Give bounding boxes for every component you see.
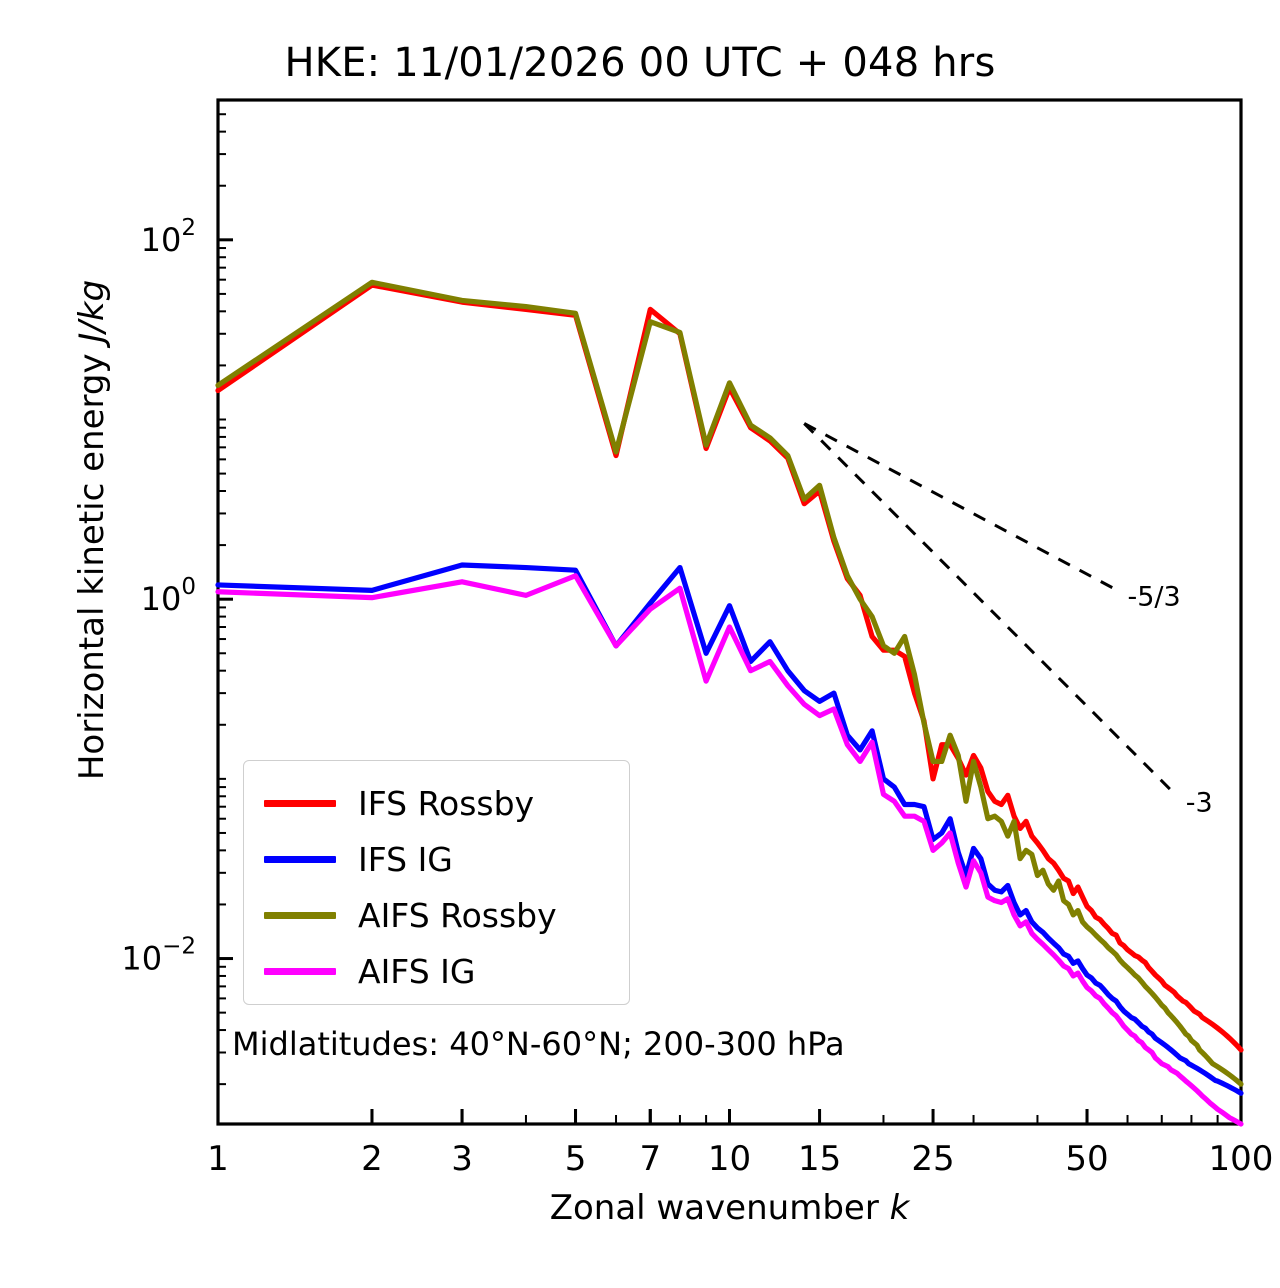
x-tick-label: 7 xyxy=(639,1139,661,1179)
x-tick-labels: 1235710152550100 xyxy=(207,1139,1273,1179)
x-tick-label: 3 xyxy=(451,1139,473,1179)
legend-item[interactable]: IFS Rossby xyxy=(244,775,629,831)
legend-swatch-aifs-ig xyxy=(264,968,336,975)
legend-label-aifs-rossby: AIFS Rossby xyxy=(358,899,557,932)
legend-item[interactable]: IFS IG xyxy=(244,831,629,887)
y-tick-labels: 10210010−2 xyxy=(121,215,196,978)
legend: IFS Rossby IFS IG AIFS Rossby AIFS IG xyxy=(243,760,630,1005)
legend-swatch-ifs-ig xyxy=(264,856,336,863)
y-tick-label: 10−2 xyxy=(121,934,196,978)
legend-swatch-aifs-rossby xyxy=(264,912,336,919)
y-tick-label: 100 xyxy=(141,574,196,618)
legend-item[interactable]: AIFS IG xyxy=(244,943,629,999)
reference-slope-label: -3 xyxy=(1186,787,1213,818)
reference-line xyxy=(804,424,1120,592)
plot-canvas: 10210010−2 1235710152550100 -5/3-3 xyxy=(0,0,1280,1288)
x-tick-label: 15 xyxy=(798,1139,841,1179)
chart-page: HKE: 11/01/2026 00 UTC + 048 hrs Horizon… xyxy=(0,0,1280,1288)
y-tick-label: 102 xyxy=(141,215,196,259)
x-tick-label: 10 xyxy=(708,1139,751,1179)
legend-label-aifs-ig: AIFS IG xyxy=(358,955,475,988)
x-tick-label: 50 xyxy=(1065,1139,1108,1179)
reference-slope-labels: -5/3-3 xyxy=(1128,581,1213,818)
legend-swatch-ifs-rossby xyxy=(264,800,336,807)
x-tick-label: 25 xyxy=(911,1139,954,1179)
x-tick-label: 1 xyxy=(207,1139,229,1179)
x-tick-label: 100 xyxy=(1209,1139,1274,1179)
x-tick-label: 5 xyxy=(565,1139,587,1179)
region-annotation: Midlatitudes: 40°N-60°N; 200-300 hPa xyxy=(232,1025,845,1063)
legend-item[interactable]: AIFS Rossby xyxy=(244,887,629,943)
reference-line xyxy=(804,424,1177,797)
reference-slope-lines xyxy=(804,424,1177,797)
legend-label-ifs-ig: IFS IG xyxy=(358,843,453,876)
x-tick-label: 2 xyxy=(361,1139,383,1179)
legend-label-ifs-rossby: IFS Rossby xyxy=(358,787,534,820)
reference-slope-label: -5/3 xyxy=(1128,581,1181,612)
